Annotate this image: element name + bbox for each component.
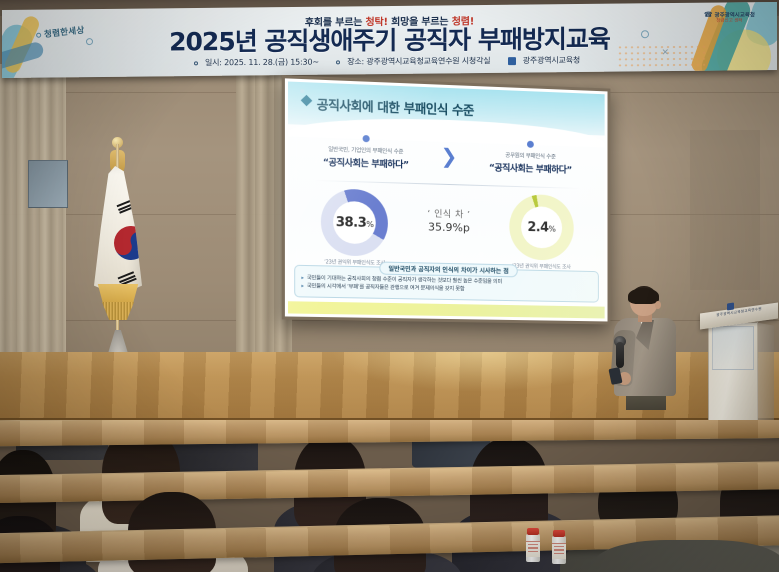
taeguk-symbol-icon xyxy=(109,221,153,265)
audience-member xyxy=(604,516,754,572)
lecture-hall-photo: ✕ 청렴한세상 ☎ 광주광역시교육청 청렴신고 센터 후회를 부르는 청탁! 희… xyxy=(0,0,779,572)
donut-ring: 38.3% xyxy=(321,188,388,256)
greater-than-icon: ❯ xyxy=(441,146,458,167)
gap-value: 35.9%p xyxy=(427,221,470,236)
presentation-slide: 공직사회에 대한 부패인식 수준 일반국민, 기업인의 부패인식 수준 “공직사… xyxy=(288,82,605,319)
column-quote: “공직사회는 부패하다” xyxy=(295,154,437,172)
bullet-circle-icon xyxy=(336,60,340,64)
donut-chart-public: 38.3% ‘23년 권익위 부패인식도 조사 xyxy=(301,188,408,267)
donut-ring: 2.4% xyxy=(509,194,573,261)
podium: 광주광역시교육청교육연수원 xyxy=(700,300,778,428)
column-marker-dot-icon xyxy=(362,135,369,142)
projection-screen: 공직사회에 대한 부패인식 수준 일반국민, 기업인의 부패인식 수준 “공직사… xyxy=(282,75,611,324)
flag-cloth xyxy=(94,166,142,296)
column-officials: 공무원의 부패인식 수준 “공직사회는 부패하다” xyxy=(462,138,599,176)
donut-chart-officials: 2.4% ‘23년 권익위 부패인식도 조사 xyxy=(490,193,592,271)
banner-organizer: 광주광역시교육청 xyxy=(508,56,585,66)
stage-light-glow xyxy=(330,352,630,392)
wall-column xyxy=(690,130,760,290)
microphone-body xyxy=(616,342,624,368)
drink-bottle xyxy=(526,528,540,562)
perception-gap: ‘ 인식 차 ’ 35.9%p xyxy=(427,209,470,235)
audience-seating xyxy=(0,420,779,572)
column-quote: “공직사회는 부패하다” xyxy=(462,159,599,176)
column-public: 일반국민, 기업인의 부패인식 수준 “공직사회는 부패하다” xyxy=(295,133,437,172)
banner-date: 일시: 2025. 11. 28.(금) 15:30~ xyxy=(194,57,324,67)
trigram-geon-icon xyxy=(117,199,136,215)
education-office-emblem-icon xyxy=(727,303,734,311)
bench-row-back xyxy=(0,420,779,446)
bottle-cap xyxy=(527,528,539,535)
triangle-bullet-icon: ▸ xyxy=(301,283,303,289)
presenter-ear xyxy=(655,301,661,309)
bullet-circle-icon xyxy=(194,61,198,65)
audience-torso xyxy=(594,540,779,572)
event-banner: ✕ 청렴한세상 ☎ 광주광역시교육청 청렴신고 센터 후회를 부르는 청탁! 희… xyxy=(2,2,777,78)
curtain-left xyxy=(0,64,66,364)
presenter-hair xyxy=(628,288,659,304)
decor-dot-icon xyxy=(300,89,304,93)
wall-control-panel xyxy=(28,160,68,208)
flag-fringe-strands xyxy=(98,302,138,320)
donut-value: 2.4% xyxy=(527,220,555,236)
podium-legs xyxy=(756,322,774,425)
slide-footer-band xyxy=(288,301,605,318)
drink-bottle xyxy=(552,530,566,564)
triangle-bullet-icon: ▸ xyxy=(301,275,303,281)
slide-divider xyxy=(314,180,580,189)
donut-value: 38.3% xyxy=(336,215,374,231)
education-office-emblem-icon xyxy=(508,57,516,65)
presenter xyxy=(612,286,684,406)
podium-glass-panel xyxy=(712,326,754,370)
note-title: 일반국민과 공직자의 인식의 차이가 시사하는 점 xyxy=(379,261,517,277)
column-marker-dot-icon xyxy=(527,141,534,148)
banner-place: 장소: 광주광역시교육청교육연수원 시청각실 xyxy=(336,56,495,66)
korean-flag xyxy=(86,144,150,364)
slide-note-box: 일반국민과 공직자의 인식의 차이가 시사하는 점 ▸국민들이 기대하는 공직사… xyxy=(294,264,599,302)
bottle-cap xyxy=(553,530,565,537)
